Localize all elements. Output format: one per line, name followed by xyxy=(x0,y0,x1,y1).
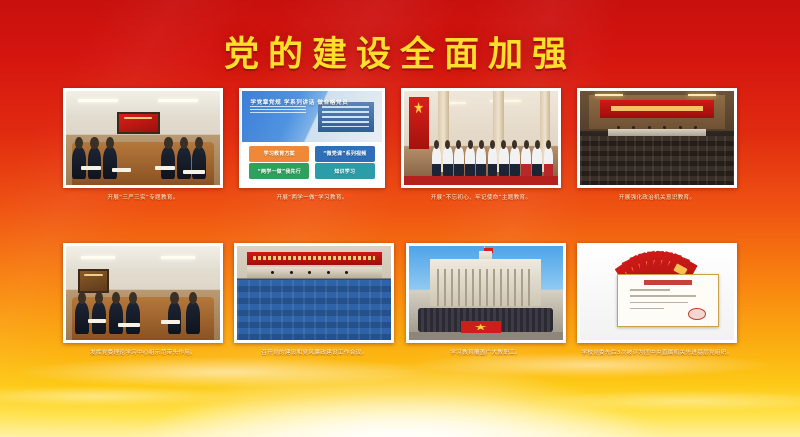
scene-lecture-hall-work-conference xyxy=(237,246,391,340)
scene-meeting-room-red-screen xyxy=(66,91,220,185)
photo-frame-1 xyxy=(63,88,223,188)
photo-frame-8 xyxy=(577,243,737,343)
scene-auditorium-conference xyxy=(580,91,734,185)
website-tile-3-label: “两学一做”我先行 xyxy=(258,168,301,175)
website-hero-banner: 学党章党规 学系列讲话 做合格党员 xyxy=(242,91,382,142)
photo-caption-5: 发挥党委理论学习中心组示范带头作用。 xyxy=(63,350,223,358)
website-hero-text: 学党章党规 学系列讲话 做合格党员 xyxy=(250,98,348,106)
photo-caption-2: 开展“两学一做”学习教育。 xyxy=(239,195,385,203)
website-tile-1[interactable]: 学习教育方案 xyxy=(249,146,309,162)
photo-caption-4: 开展强化政治机关意识教育。 xyxy=(577,195,737,203)
photo-card-7[interactable]: 学习教育覆盖广大教职工。 xyxy=(406,243,566,358)
scene-website-screenshot: 学党章党规 学系列讲话 做合格党员 学习教育方案 “微党课”系列视频 “两学一做… xyxy=(242,91,382,185)
scene-certificates-fan xyxy=(580,246,734,340)
photo-card-3[interactable]: 开展“不忘初心、牢记使命”主题教育。 xyxy=(401,88,561,203)
photo-caption-6: 召开党的建设和党风廉政建设工作会议。 xyxy=(234,350,394,358)
propaganda-board: 党的建设全面加强 xyxy=(0,0,800,437)
scene-group-photo-building xyxy=(409,246,563,340)
website-tile-grid: 学习教育方案 “微党课”系列视频 “两学一做”我先行 知识学习 xyxy=(249,146,375,180)
photo-card-2[interactable]: 学党章党规 学系列讲话 做合格党员 学习教育方案 “微党课”系列视频 “两学一做… xyxy=(239,88,385,203)
photo-frame-3 xyxy=(401,88,561,188)
photo-row-1: 开展“三严三实”专题教育。 学党章党规 学系列讲话 做合格党员 学习教育方案 xyxy=(63,88,737,203)
photo-caption-1: 开展“三严三实”专题教育。 xyxy=(63,195,223,203)
website-tile-2[interactable]: “微党课”系列视频 xyxy=(315,146,375,162)
website-tile-4-label: 知识学习 xyxy=(334,168,355,175)
scene-meeting-room-study-group xyxy=(66,246,220,340)
website-tile-3[interactable]: “两学一做”我先行 xyxy=(249,163,309,179)
photo-frame-4 xyxy=(577,88,737,188)
certificate-sheet xyxy=(617,274,719,327)
photo-caption-7: 学习教育覆盖广大教职工。 xyxy=(406,350,566,358)
photo-frame-2: 学党章党规 学系列讲话 做合格党员 学习教育方案 “微党课”系列视频 “两学一做… xyxy=(239,88,385,188)
website-tile-1-label: 学习教育方案 xyxy=(264,150,295,157)
website-tile-4[interactable]: 知识学习 xyxy=(315,163,375,179)
photo-card-4[interactable]: 开展强化政治机关意识教育。 xyxy=(577,88,737,203)
page-title: 党的建设全面加强 xyxy=(0,26,800,77)
photo-frame-7 xyxy=(406,243,566,343)
photo-card-1[interactable]: 开展“三严三实”专题教育。 xyxy=(63,88,223,203)
photo-caption-3: 开展“不忘初心、牢记使命”主题教育。 xyxy=(401,195,561,203)
photo-row-2: 发挥党委理论学习中心组示范带头作用。 召开党的建设和党风廉政建设工作会议。 xyxy=(63,243,737,358)
photo-card-6[interactable]: 召开党的建设和党风廉政建设工作会议。 xyxy=(234,243,394,358)
photo-card-5[interactable]: 发挥党委理论学习中心组示范带头作用。 xyxy=(63,243,223,358)
photo-card-8[interactable]: 学校党委先后3次被评为团中央直属机关先进基层党组织。 xyxy=(577,243,737,358)
scene-exhibition-hall-oath xyxy=(404,91,558,185)
photo-caption-8: 学校党委先后3次被评为团中央直属机关先进基层党组织。 xyxy=(577,350,737,358)
photo-frame-6 xyxy=(234,243,394,343)
website-tile-2-label: “微党课”系列视频 xyxy=(323,150,366,157)
photo-frame-5 xyxy=(63,243,223,343)
